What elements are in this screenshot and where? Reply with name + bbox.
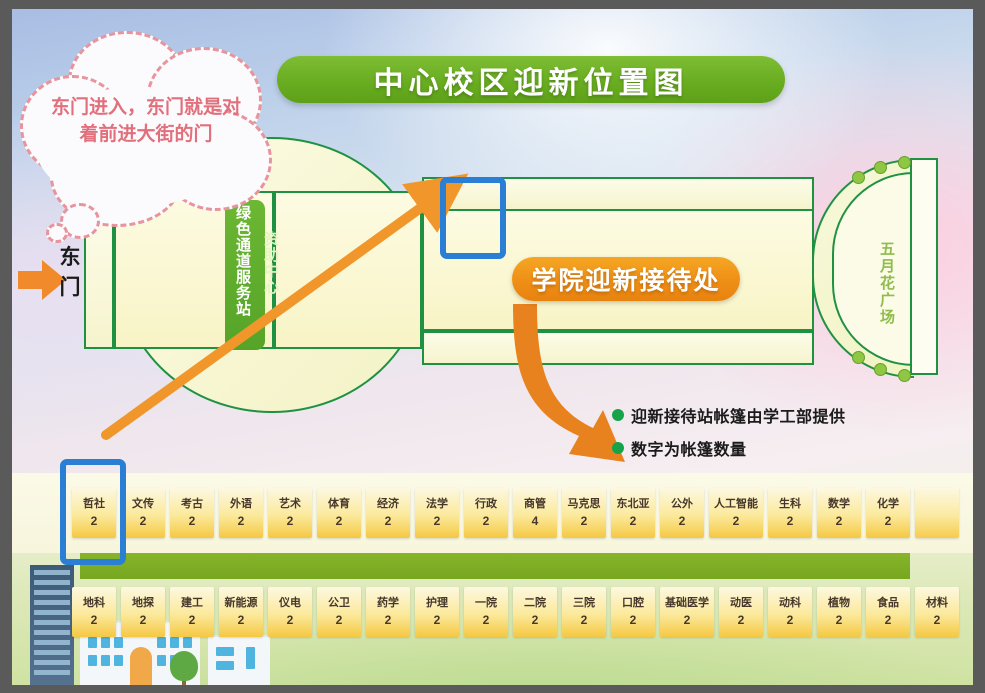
tent-row-bottom: 地科2地探2建工2新能源2仪电2公卫2药学2护理2一院2二院2三院2口腔2基础医… <box>72 587 964 637</box>
callout-text: 东门进入，东门就是对着前进大街的门 <box>50 95 242 149</box>
tent-department-name: 人工智能 <box>714 498 758 510</box>
tent-department-name: 地科 <box>83 597 105 609</box>
tent-department-name: 二院 <box>524 597 546 609</box>
tent-quantity: 2 <box>836 514 843 528</box>
tent-cell[interactable]: 植物2 <box>817 587 861 637</box>
tent-department-name: 法学 <box>426 498 448 510</box>
tent-department-name: 基础医学 <box>665 597 709 609</box>
tent-department-name: 仪电 <box>279 597 301 609</box>
tent-department-name: 公外 <box>671 498 693 510</box>
legend-bullet-icon <box>612 409 624 421</box>
tent-quantity: 2 <box>733 514 740 528</box>
tent-quantity: 2 <box>630 613 637 627</box>
tent-cell[interactable]: 三院2 <box>562 587 606 637</box>
mayflower-square-label: 五月花广场 <box>876 241 897 326</box>
tent-department-name: 商管 <box>524 498 546 510</box>
legend-item-text: 迎新接待站帐篷由学工部提供 <box>631 403 846 427</box>
screenshot-frame: ︵ ︵ <box>0 0 985 693</box>
tent-cell[interactable]: 考古2 <box>170 488 214 538</box>
tent-cell[interactable]: 公外2 <box>660 488 704 538</box>
tent-cell[interactable]: 新能源2 <box>219 587 263 637</box>
tent-department-name: 植物 <box>828 597 850 609</box>
tent-cell[interactable]: 经济2 <box>366 488 410 538</box>
tent-quantity: 2 <box>934 613 941 627</box>
tent-quantity: 2 <box>385 514 392 528</box>
tent-cell[interactable]: 药学2 <box>366 587 410 637</box>
tree-dot-icon <box>852 351 865 364</box>
tent-cell[interactable]: 文传2 <box>121 488 165 538</box>
tent-cell[interactable]: 公卫2 <box>317 587 361 637</box>
tent-department-name: 食品 <box>877 597 899 609</box>
tent-quantity: 4 <box>532 514 539 528</box>
tent-quantity: 2 <box>91 613 98 627</box>
lawn-strip <box>80 553 910 579</box>
tent-quantity: 2 <box>581 613 588 627</box>
tent-quantity: 2 <box>684 613 691 627</box>
tent-department-name: 生科 <box>779 498 801 510</box>
tree-dot-icon <box>898 156 911 169</box>
tent-quantity: 2 <box>140 514 147 528</box>
poster-title: 中心校区迎新位置图 <box>277 56 785 103</box>
tent-quantity: 2 <box>385 613 392 627</box>
tent-quantity: 2 <box>238 613 245 627</box>
tent-quantity: 2 <box>885 514 892 528</box>
orientation-map-poster: ︵ ︵ <box>12 9 973 685</box>
tent-department-name: 药学 <box>377 597 399 609</box>
tent-cell[interactable]: 建工2 <box>170 587 214 637</box>
tent-quantity: 2 <box>581 514 588 528</box>
tent-cell[interactable]: 动科2 <box>768 587 812 637</box>
tent-department-name: 文传 <box>132 498 154 510</box>
tent-quantity: 2 <box>287 613 294 627</box>
tent-department-name: 一院 <box>475 597 497 609</box>
tent-cell[interactable]: 口腔2 <box>611 587 655 637</box>
tent-department-name: 动医 <box>730 597 752 609</box>
tent-cell[interactable]: 地科2 <box>72 587 116 637</box>
tent-quantity: 2 <box>434 613 441 627</box>
tent-department-name: 三院 <box>573 597 595 609</box>
tent-department-name: 化学 <box>877 498 899 510</box>
east-gate-char-2: 门 <box>50 273 90 303</box>
green-channel-label: 绿色通道服务站 <box>232 205 253 317</box>
tent-department-name: 公卫 <box>328 597 350 609</box>
tent-quantity: 2 <box>787 613 794 627</box>
tent-cell[interactable]: 东北亚2 <box>611 488 655 538</box>
tent-cell[interactable]: 化学2 <box>866 488 910 538</box>
tent-cell[interactable]: 人工智能2 <box>709 488 763 538</box>
tent-department-name: 新能源 <box>225 597 258 609</box>
tent-cell[interactable]: 一院2 <box>464 587 508 637</box>
tent-quantity: 2 <box>836 613 843 627</box>
tent-department-name: 行政 <box>475 498 497 510</box>
tent-department-name: 护理 <box>426 597 448 609</box>
legend-item-text: 数字为帐篷数量 <box>631 436 747 460</box>
tent-department-name: 外语 <box>230 498 252 510</box>
tent-quantity: 2 <box>287 514 294 528</box>
tree-dot-icon <box>874 161 887 174</box>
tent-row-top: 哲社2文传2考古2外语2艺术2体育2经济2法学2行政2商管4马克思2东北亚2公外… <box>72 488 964 538</box>
tent-quantity: 2 <box>679 514 686 528</box>
tent-cell[interactable]: 行政2 <box>464 488 508 538</box>
tent-department-name: 口腔 <box>622 597 644 609</box>
tent-quantity: 2 <box>434 514 441 528</box>
tent-cell[interactable]: 材料2 <box>915 587 959 637</box>
tent-cell[interactable]: 地探2 <box>121 587 165 637</box>
tent-cell[interactable]: 食品2 <box>866 587 910 637</box>
tent-department-name: 动科 <box>779 597 801 609</box>
tent-quantity: 2 <box>738 613 745 627</box>
legend-item: 数字为帐篷数量 <box>612 436 846 460</box>
tent-cell[interactable]: 外语2 <box>219 488 263 538</box>
tent-quantity: 2 <box>336 613 343 627</box>
tent-department-name: 考古 <box>181 498 203 510</box>
poster-title-text: 中心校区迎新位置图 <box>374 58 689 102</box>
tree-dot-icon <box>852 171 865 184</box>
tower-building <box>30 565 74 685</box>
tent-department-name: 东北亚 <box>617 498 650 510</box>
tent-quantity: 2 <box>532 613 539 627</box>
tent-cell[interactable]: 商管4 <box>513 488 557 538</box>
tent-department-name: 建工 <box>181 597 203 609</box>
tent-department-name: 经济 <box>377 498 399 510</box>
side-building <box>208 635 270 685</box>
tent-quantity: 2 <box>483 613 490 627</box>
east-gate-label: 东 门 <box>50 243 90 304</box>
tent-cell-empty[interactable] <box>915 488 959 538</box>
tent-cell[interactable]: 基础医学2 <box>660 587 714 637</box>
tent-cell[interactable]: 马克思2 <box>562 488 606 538</box>
tent-quantity: 2 <box>336 514 343 528</box>
tent-quantity: 2 <box>189 613 196 627</box>
aid-center-label: 资助中心 <box>260 231 281 295</box>
tent-department-name: 马克思 <box>568 498 601 510</box>
mayflower-plaza-wall <box>910 158 938 375</box>
tent-quantity: 2 <box>483 514 490 528</box>
tent-cell[interactable]: 仪电2 <box>268 587 312 637</box>
tent-quantity: 2 <box>140 613 147 627</box>
tent-department-name: 地探 <box>132 597 154 609</box>
tent-cell[interactable]: 动医2 <box>719 587 763 637</box>
tent-cell[interactable]: 护理2 <box>415 587 459 637</box>
legend-bullet-icon <box>612 442 624 454</box>
tent-quantity: 2 <box>189 514 196 528</box>
legend-item: 迎新接待站帐篷由学工部提供 <box>612 403 846 427</box>
tent-cell[interactable]: 数学2 <box>817 488 861 538</box>
tent-department-name: 艺术 <box>279 498 301 510</box>
tent-department-name: 数学 <box>828 498 850 510</box>
east-gate-char-1: 东 <box>50 243 90 273</box>
tent-cell[interactable]: 二院2 <box>513 587 557 637</box>
reception-desk-badge: 学院迎新接待处 <box>512 257 740 301</box>
tent-department-name: 体育 <box>328 498 350 510</box>
tent-quantity: 2 <box>787 514 794 528</box>
tent-department-name: 材料 <box>926 597 948 609</box>
reception-area-highlight[interactable] <box>440 177 506 259</box>
tent-cell[interactable]: 体育2 <box>317 488 361 538</box>
tree-dot-icon <box>898 369 911 382</box>
tent-cell[interactable]: 艺术2 <box>268 488 312 538</box>
tent-quantity: 2 <box>885 613 892 627</box>
tent-cell[interactable]: 法学2 <box>415 488 459 538</box>
tree-dot-icon <box>874 363 887 376</box>
tent-cell[interactable]: 生科2 <box>768 488 812 538</box>
reception-desk-label: 学院迎新接待处 <box>531 261 720 297</box>
bubble-tail <box>46 223 68 243</box>
tent-quantity: 2 <box>630 514 637 528</box>
philosophy-tent-highlight[interactable] <box>60 459 126 565</box>
tent-quantity: 2 <box>238 514 245 528</box>
